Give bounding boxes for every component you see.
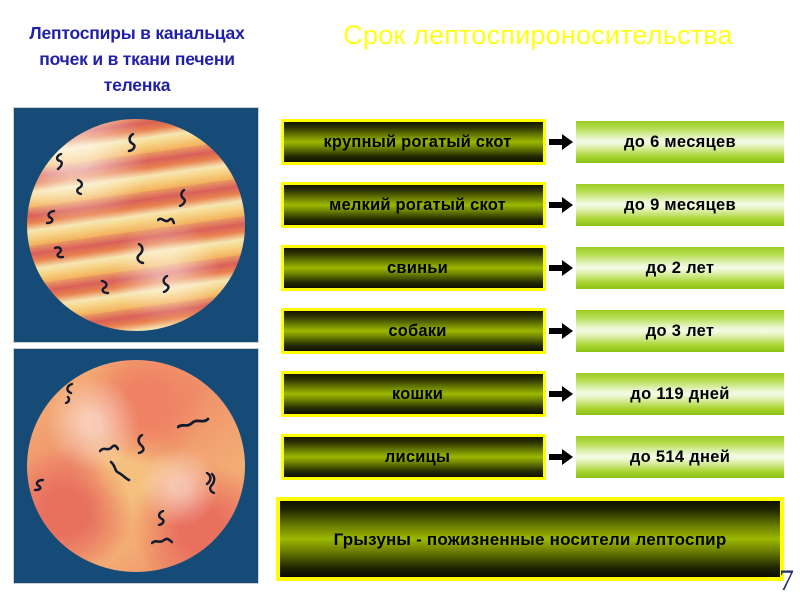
term-box-small-ruminants[interactable]: до 9 месяцев [576,184,784,226]
leptospira-spirochete-icon [31,478,45,492]
term-label: до 3 лет [646,322,715,341]
rodents-lifelong-carriers-box[interactable]: Грызуны - пожизненные носители лептоспир [276,497,784,581]
arrow-right-icon [549,386,573,402]
animal-label: крупный рогатый скот [323,133,511,152]
animal-label: лисицы [385,448,450,467]
term-box-dogs[interactable]: до 3 лет [576,310,784,352]
term-box-pigs[interactable]: до 2 лет [576,247,784,289]
arrow-right-icon [549,323,573,339]
flow-row: мелкий рогатый скот до 9 месяцев [0,182,800,228]
flow-row: крупный рогатый скот до 6 месяцев [0,119,800,165]
term-box-cats[interactable]: до 119 дней [576,373,784,415]
footer-label: Грызуны - пожизненные носители лептоспир [334,527,727,552]
animal-box-pigs[interactable]: свиньи [281,245,546,291]
animal-label: собаки [388,322,446,341]
term-label: до 2 лет [646,259,715,278]
animal-box-small-ruminants[interactable]: мелкий рогатый скот [281,182,546,228]
page-title: Срок лептоспироносительства [280,20,796,51]
left-panel-caption: Лептоспиры в канальцах почек и в ткани п… [6,20,268,98]
animal-box-dogs[interactable]: собаки [281,308,546,354]
flow-row: свиньи до 2 лет [0,245,800,291]
arrow-right-icon [549,134,573,150]
flow-row: лисицы до 514 дней [0,434,800,480]
term-label: до 6 месяцев [624,133,736,152]
term-label: до 119 дней [630,385,729,404]
arrow-right-icon [549,260,573,276]
flow-row: кошки до 119 дней [0,371,800,417]
leptospira-spirochete-icon [155,510,167,526]
term-box-foxes[interactable]: до 514 дней [576,436,784,478]
term-box-cattle[interactable]: до 6 месяцев [576,121,784,163]
arrow-right-icon [549,197,573,213]
animal-box-cats[interactable]: кошки [281,371,546,417]
leptospira-spirochete-icon [151,536,173,548]
term-label: до 514 дней [630,448,730,467]
animal-label: кошки [392,385,443,404]
page-number: 7 [779,564,794,598]
flow-row: собаки до 3 лет [0,308,800,354]
animal-label: мелкий рогатый скот [329,196,506,215]
animal-box-cattle[interactable]: крупный рогатый скот [281,119,546,165]
animal-label: свиньи [387,259,448,278]
term-label: до 9 месяцев [624,196,736,215]
animal-box-foxes[interactable]: лисицы [281,434,546,480]
arrow-right-icon [549,449,573,465]
